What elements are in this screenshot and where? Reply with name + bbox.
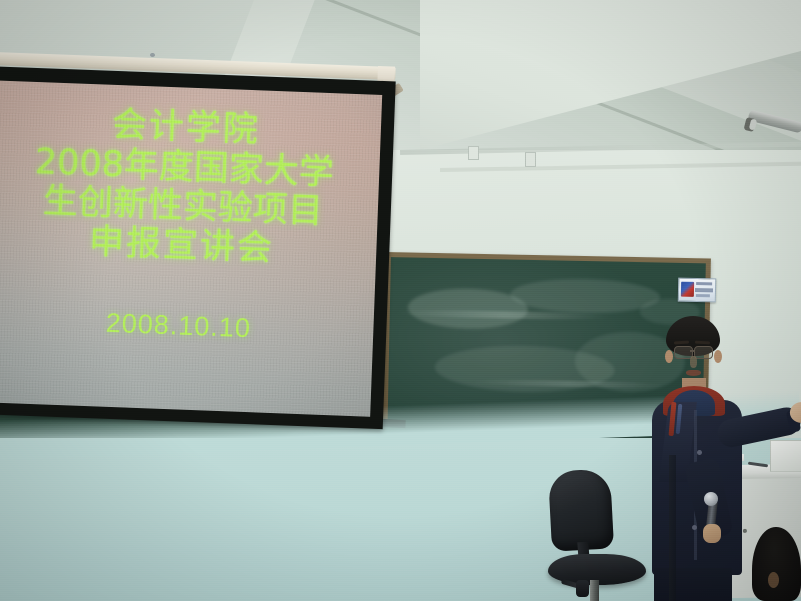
speaker-nose — [690, 356, 697, 368]
speaker-jacket-button — [697, 450, 702, 455]
slide-content: 会计学院 2008年度国家大学 生创新性实验项目 申报宣讲会 2008.10.1… — [0, 80, 382, 416]
glasses-bridge-icon — [690, 350, 695, 352]
chair-backrest — [548, 468, 614, 551]
projector-screen-surface: 会计学院 2008年度国家大学 生创新性实验项目 申报宣讲会 2008.10.1… — [0, 80, 382, 416]
slide-date: 2008.10.10 — [105, 308, 251, 344]
plaque-logo-icon — [681, 282, 694, 297]
slide-line-1: 会计学院 — [111, 107, 260, 150]
wall-plaque-sign — [678, 278, 716, 303]
classroom-photo: 会计学院 2008年度国家大学 生创新性实验项目 申报宣讲会 2008.10.1… — [0, 0, 801, 601]
audience-member-ear — [768, 572, 779, 588]
projector-screen: 会计学院 2008年度国家大学 生创新性实验项目 申报宣讲会 2008.10.1… — [0, 66, 396, 429]
chair-gas-cylinder — [590, 580, 599, 601]
slide-line-3: 生创新性实验项目 — [42, 184, 323, 232]
office-chair — [540, 470, 675, 601]
microphone-head-icon — [704, 492, 718, 506]
wall-clip-right-icon — [525, 152, 536, 167]
chair-mechanism — [576, 580, 589, 597]
plaque-text-line — [696, 282, 712, 285]
plaque-text-line — [695, 288, 713, 292]
wall-clip-left-icon — [468, 146, 479, 160]
speaker-jacket-button — [692, 525, 697, 530]
plaque-text-line — [696, 294, 710, 297]
speaker-ear-right — [714, 350, 722, 363]
chalk-smudge — [510, 278, 661, 315]
slide-line-4: 申报宣讲会 — [88, 224, 274, 268]
screen-roller-screw-icon — [150, 53, 155, 57]
speaker-mic-hand — [703, 524, 721, 543]
speaker-ear-left — [665, 350, 673, 363]
speaker-mouth — [686, 370, 701, 376]
glasses-lens-right-icon — [694, 346, 713, 359]
